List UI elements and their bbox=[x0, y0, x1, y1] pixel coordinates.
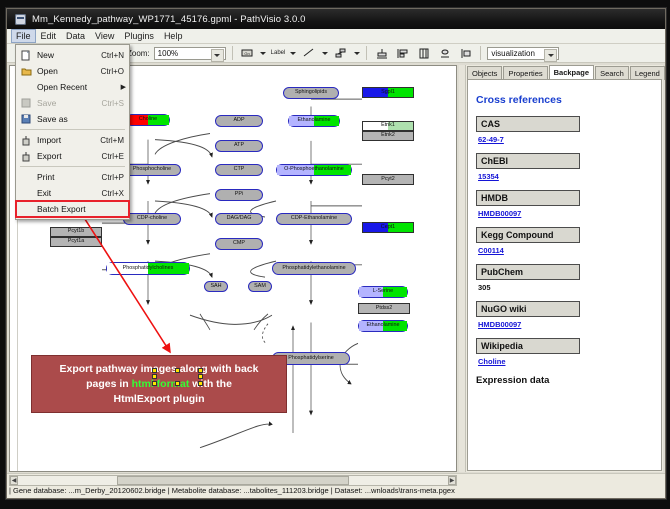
pathway-node-cmp[interactable]: CMP bbox=[215, 238, 263, 250]
no-icon bbox=[19, 81, 33, 94]
xref-value-cas[interactable]: 62-49-7 bbox=[478, 135, 661, 144]
file-menu-item-label: Exit bbox=[33, 188, 102, 198]
no-icon bbox=[19, 203, 33, 216]
xref-header-nugo-wiki: NuGO wiki bbox=[476, 301, 580, 317]
scrollbar-thumb[interactable] bbox=[117, 476, 349, 485]
menu-edit[interactable]: Edit bbox=[36, 29, 62, 43]
pathway-node-ethanolamine2[interactable]: Ethanolamine bbox=[358, 320, 408, 332]
expression-data-title: Expression data bbox=[476, 375, 661, 386]
file-menu-dropdown[interactable]: NewCtrl+NOpenCtrl+OOpen Recent▶SaveCtrl+… bbox=[15, 44, 130, 220]
visualization-combobox[interactable]: visualization bbox=[487, 47, 559, 60]
cross-references-title: Cross references bbox=[476, 94, 661, 106]
file-menu-item-accelerator: Ctrl+O bbox=[101, 67, 126, 76]
node-label: DAG/DAG bbox=[227, 216, 252, 221]
node-label: Etnk2 bbox=[381, 133, 395, 138]
file-menu-item-open-recent[interactable]: Open Recent▶ bbox=[16, 79, 129, 95]
anchor-icon[interactable] bbox=[373, 45, 390, 62]
scroll-left-icon[interactable]: ◀ bbox=[10, 476, 18, 485]
tab-backpage[interactable]: Backpage bbox=[549, 65, 594, 80]
backpage-content: Cross references CAS62-49-7ChEBI15354HMD… bbox=[467, 79, 662, 471]
zoom-combobox[interactable]: 100% bbox=[154, 47, 226, 60]
pathway-node-cept1[interactable]: Cept1 bbox=[362, 222, 414, 233]
label-chevron-icon[interactable] bbox=[289, 47, 296, 60]
zoom-label: Zoom: bbox=[127, 49, 150, 58]
tab-properties[interactable]: Properties bbox=[503, 66, 547, 80]
import-icon bbox=[19, 134, 33, 147]
callout-line2-a: pages in bbox=[86, 378, 132, 390]
datanode-chevron-icon[interactable] bbox=[260, 47, 267, 60]
file-menu-item-export[interactable]: ExportCtrl+E bbox=[16, 148, 129, 164]
annotation-callout: Export pathway images along with back pa… bbox=[31, 355, 287, 413]
callout-line2-b: with the bbox=[189, 378, 232, 390]
file-menu-item-accelerator: Ctrl+P bbox=[102, 173, 126, 182]
pathway-node-atp[interactable]: ATP bbox=[215, 140, 263, 152]
node-label: Sgpl1 bbox=[381, 90, 395, 95]
node-label: Ptdss2 bbox=[376, 306, 392, 311]
node-label: PPi bbox=[235, 192, 243, 197]
node-label: Phosphatidylcholines bbox=[123, 266, 174, 271]
file-menu-item-accelerator: Ctrl+M bbox=[100, 136, 126, 145]
align-middle-icon[interactable] bbox=[436, 45, 453, 62]
selection-handle[interactable] bbox=[175, 368, 180, 373]
file-menu-item-save-as[interactable]: Save as bbox=[16, 111, 129, 127]
pathway-node-sgpl1[interactable]: Sgpl1 bbox=[362, 87, 414, 98]
align-center-icon[interactable] bbox=[415, 45, 432, 62]
print-icon bbox=[19, 171, 33, 184]
side-panel-scrollbar[interactable] bbox=[459, 65, 466, 472]
datanode-icon[interactable]: Gn bbox=[239, 45, 256, 62]
tab-objects[interactable]: Objects bbox=[467, 66, 502, 80]
pathway-node-ptdcholine[interactable]: Phosphatidylcholines bbox=[106, 262, 190, 275]
node-label: Ethanolamine bbox=[367, 323, 400, 328]
file-menu-item-batch-export[interactable]: Batch Export bbox=[16, 201, 129, 217]
svg-text:Gn: Gn bbox=[245, 51, 250, 56]
file-menu-item-label: Open bbox=[33, 66, 101, 76]
selection-handle[interactable] bbox=[198, 374, 203, 379]
line-chevron-icon[interactable] bbox=[321, 47, 328, 60]
status-bar: ◀ ▶ | Gene database: ...m_Derby_20120602… bbox=[7, 473, 665, 498]
node-label: CDP-Ethanolamine bbox=[291, 216, 337, 221]
menu-separator bbox=[20, 129, 125, 130]
pathway-node-cdpethanol[interactable]: CDP-Ethanolamine bbox=[276, 213, 352, 225]
pathway-node-etnk2[interactable]: Etnk2 bbox=[362, 131, 414, 141]
pathvisio-window: Mm_Kennedy_pathway_WP1771_45176.gpml - P… bbox=[6, 8, 666, 499]
pathway-node-phosphocholine[interactable]: Phosphocholine bbox=[123, 164, 181, 176]
open-folder-icon bbox=[19, 65, 33, 78]
node-label: SAH bbox=[210, 284, 221, 289]
selection-handle[interactable] bbox=[198, 368, 203, 373]
pathway-node-ophospho[interactable]: O-Phosphoethanolamine bbox=[276, 164, 352, 176]
file-menu-item-print[interactable]: PrintCtrl+P bbox=[16, 169, 129, 185]
file-menu-item-label: Save bbox=[33, 98, 102, 108]
pathway-node-sam[interactable]: SAM bbox=[248, 281, 272, 292]
chevron-down-icon[interactable] bbox=[211, 49, 224, 62]
menu-data[interactable]: Data bbox=[61, 29, 90, 43]
file-menu-item-label: New bbox=[33, 50, 101, 60]
pathway-node-etnk1[interactable]: Etnk1 bbox=[362, 121, 414, 131]
pathway-node-sah[interactable]: SAH bbox=[204, 281, 228, 292]
pathway-node-pcyt1b[interactable]: Pcyt1b bbox=[50, 227, 102, 237]
node-label: Phosphatidylethanolamine bbox=[282, 266, 345, 271]
save-icon bbox=[19, 97, 33, 110]
callout-line1: Export pathway images along with back bbox=[60, 363, 259, 375]
status-bar-text: | Gene database: ...m_Derby_20120602.bri… bbox=[9, 486, 455, 495]
callout-text: Export pathway images along with back pa… bbox=[54, 362, 265, 407]
node-label: O-Phosphoethanolamine bbox=[284, 167, 344, 172]
pathway-node-ptdss2[interactable]: Ptdss2 bbox=[358, 303, 410, 314]
file-menu-item-label: Save as bbox=[33, 114, 124, 124]
file-menu-item-import[interactable]: ImportCtrl+M bbox=[16, 132, 129, 148]
node-label: SAM bbox=[254, 284, 266, 289]
selection-handle[interactable] bbox=[175, 381, 180, 386]
group-icon[interactable] bbox=[457, 45, 474, 62]
file-menu-item-new[interactable]: NewCtrl+N bbox=[16, 47, 129, 63]
node-label: Phosphatidylserine bbox=[288, 356, 334, 361]
file-menu-item-label: Export bbox=[33, 151, 102, 161]
screenshot-root: Mm_Kennedy_pathway_WP1771_45176.gpml - P… bbox=[0, 0, 670, 509]
xref-header-chebi: ChEBI bbox=[476, 153, 580, 169]
file-menu-item-accelerator: Ctrl+E bbox=[102, 152, 126, 161]
tab-search[interactable]: Search bbox=[595, 66, 629, 80]
xref-value-chebi[interactable]: 15354 bbox=[478, 172, 661, 181]
side-panel: Objects Properties Backpage Search Legen… bbox=[459, 65, 663, 472]
pathway-node-pcyt2[interactable]: Pcyt2 bbox=[362, 174, 414, 185]
submenu-chevron-icon: ▶ bbox=[121, 83, 126, 91]
shape-chevron-icon[interactable] bbox=[353, 47, 360, 60]
file-menu-item-open[interactable]: OpenCtrl+O bbox=[16, 63, 129, 79]
node-label: Etnk1 bbox=[381, 123, 395, 128]
file-menu-item-exit[interactable]: ExitCtrl+X bbox=[16, 185, 129, 201]
line-icon[interactable] bbox=[300, 45, 317, 62]
title-bar: Mm_Kennedy_pathway_WP1771_45176.gpml - P… bbox=[7, 9, 665, 30]
selection-handle[interactable] bbox=[152, 374, 157, 379]
xref-header-hmdb: HMDB bbox=[476, 190, 580, 206]
node-label: Cept1 bbox=[381, 225, 395, 230]
no-icon bbox=[19, 187, 33, 200]
file-menu-item-accelerator: Ctrl+S bbox=[102, 99, 126, 108]
node-label: CDP-choline bbox=[137, 216, 167, 221]
document-icon bbox=[15, 14, 26, 25]
file-menu-item-accelerator: Ctrl+X bbox=[102, 189, 126, 198]
canvas-horizontal-scrollbar[interactable]: ◀ ▶ bbox=[9, 475, 457, 486]
file-menu-item-save[interactable]: SaveCtrl+S bbox=[16, 95, 129, 111]
file-menu-item-label: Print bbox=[33, 172, 102, 182]
xref-value-nugo-wiki[interactable]: HMDB00097 bbox=[478, 320, 661, 329]
node-label: CTP bbox=[234, 167, 245, 172]
save-as-icon bbox=[19, 113, 33, 126]
file-menu-item-accelerator: Ctrl+N bbox=[101, 51, 126, 60]
selection-handle[interactable] bbox=[152, 368, 157, 373]
pathway-node-ptdethanol[interactable]: Phosphatidylethanolamine bbox=[272, 262, 356, 275]
pathway-node-choline[interactable]: Choline bbox=[126, 114, 170, 126]
menu-file[interactable]: File bbox=[11, 29, 36, 43]
pathway-node-lserine[interactable]: L-Serine bbox=[358, 286, 408, 298]
align-left-icon[interactable] bbox=[394, 45, 411, 62]
pathway-node-ppi[interactable]: PPi bbox=[215, 189, 263, 201]
selection-handle[interactable] bbox=[152, 381, 157, 386]
window-title: Mm_Kennedy_pathway_WP1771_45176.gpml - P… bbox=[32, 14, 306, 25]
xref-value-kegg-compound[interactable]: C00114 bbox=[478, 246, 661, 255]
tab-legend[interactable]: Legend bbox=[630, 66, 665, 80]
pathway-node-adp[interactable]: ADP bbox=[215, 115, 263, 127]
pathway-node-ethanolamine1[interactable]: Ethanolamine bbox=[288, 115, 340, 127]
node-label: L-Serine bbox=[373, 289, 393, 294]
xref-header-cas: CAS bbox=[476, 116, 580, 132]
xref-value-hmdb[interactable]: HMDB00097 bbox=[478, 209, 661, 218]
file-menu-item-label: Import bbox=[33, 135, 100, 145]
node-label: ADP bbox=[233, 118, 244, 123]
scroll-right-icon[interactable]: ▶ bbox=[448, 476, 456, 485]
node-label: Phosphocholine bbox=[133, 167, 171, 172]
menu-bar: File Edit Data View Plugins Help bbox=[7, 29, 665, 44]
xref-header-kegg-compound: Kegg Compound bbox=[476, 227, 580, 243]
file-menu-item-label: Open Recent bbox=[33, 82, 121, 92]
menu-separator bbox=[20, 166, 125, 167]
callout-line2-highlight: html format bbox=[132, 378, 190, 390]
new-file-icon bbox=[19, 49, 33, 62]
xref-value-pubchem: 305 bbox=[478, 283, 661, 292]
export-icon bbox=[19, 150, 33, 163]
chevron-down-icon[interactable] bbox=[544, 49, 557, 62]
zoom-value: 100% bbox=[158, 49, 178, 58]
menu-plugins[interactable]: Plugins bbox=[119, 29, 159, 43]
visualization-value: visualization bbox=[491, 49, 535, 58]
node-label: Pcyt1b bbox=[68, 229, 84, 234]
node-label: Choline bbox=[139, 117, 157, 122]
label-button[interactable]: Label bbox=[271, 50, 286, 56]
node-label: Pcyt1a bbox=[68, 239, 84, 244]
pathway-node-sphingolipids[interactable]: Sphingolipids bbox=[283, 87, 339, 99]
xref-value-wikipedia[interactable]: Choline bbox=[478, 357, 661, 366]
xref-header-wikipedia: Wikipedia bbox=[476, 338, 580, 354]
selection-handle[interactable] bbox=[198, 381, 203, 386]
pathway-node-ctp[interactable]: CTP bbox=[215, 164, 263, 176]
shape-icon[interactable] bbox=[332, 45, 349, 62]
node-label: ATP bbox=[234, 143, 244, 148]
cross-reference-list: CAS62-49-7ChEBI15354HMDBHMDB00097Kegg Co… bbox=[468, 116, 661, 366]
file-menu-item-label: Batch Export bbox=[33, 204, 124, 214]
pathway-node-diacylg[interactable]: DAG/DAG bbox=[215, 213, 263, 225]
xref-header-pubchem: PubChem bbox=[476, 264, 580, 280]
node-label: CMP bbox=[233, 241, 245, 246]
pathway-node-cdpcholine[interactable]: CDP-choline bbox=[123, 213, 181, 225]
node-label: Pcyt2 bbox=[381, 177, 394, 182]
menu-help[interactable]: Help bbox=[159, 29, 188, 43]
node-label: Sphingolipids bbox=[295, 90, 327, 95]
pathway-node-pcyt1a[interactable]: Pcyt1a bbox=[50, 237, 102, 247]
menu-view[interactable]: View bbox=[90, 29, 119, 43]
callout-line3: HtmlExport plugin bbox=[114, 393, 205, 405]
node-label: Ethanolamine bbox=[298, 118, 331, 123]
side-panel-tabs: Objects Properties Backpage Search Legen… bbox=[467, 65, 663, 80]
